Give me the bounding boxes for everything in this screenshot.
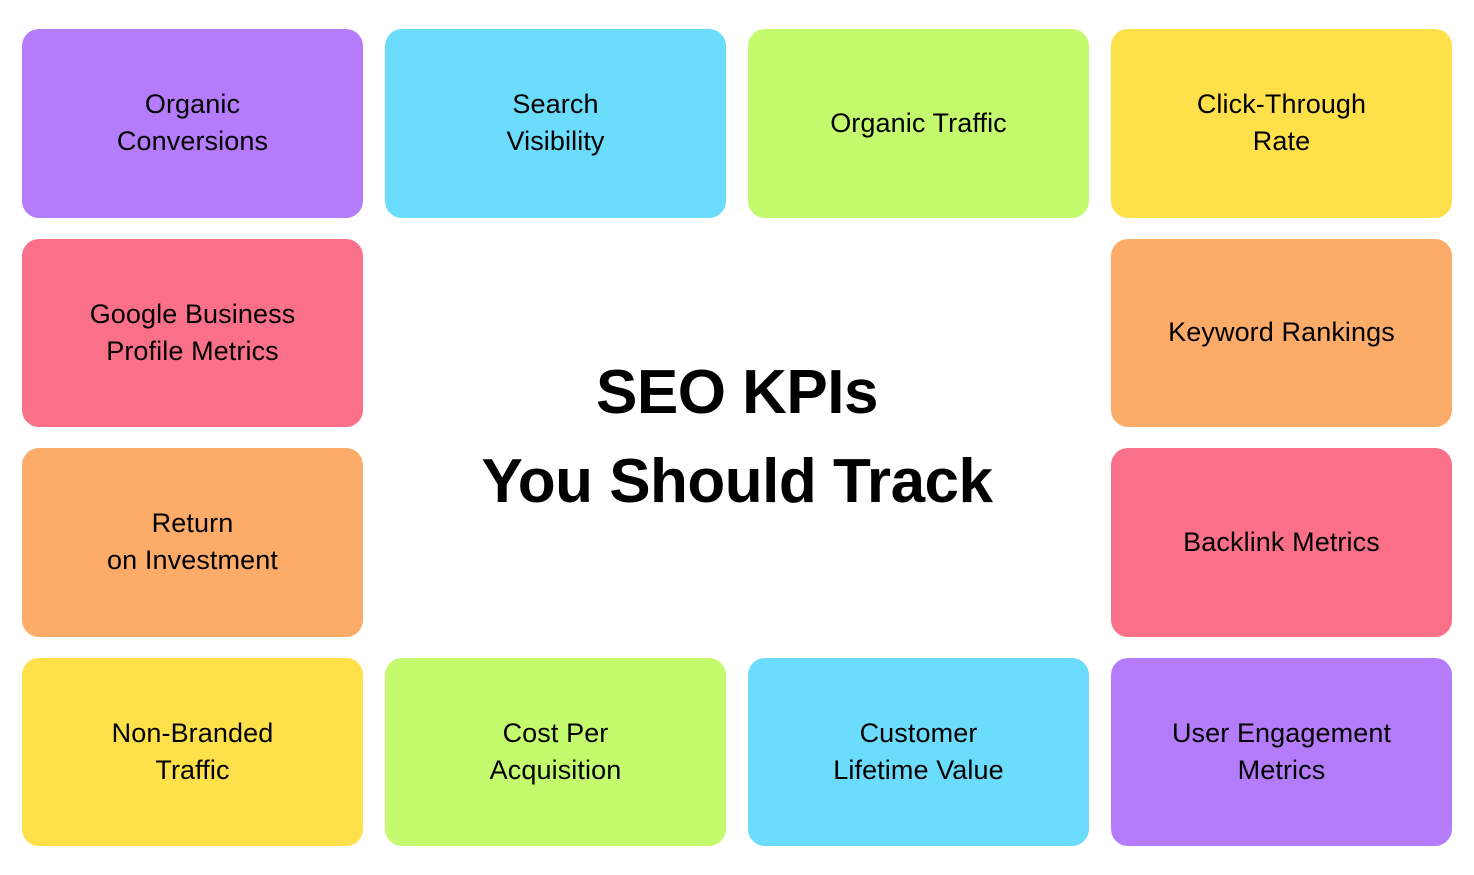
kpi-card-return-on-investment[interactable]: Return on Investment (22, 448, 363, 637)
kpi-card-label: Backlink Metrics (1183, 524, 1380, 561)
kpi-card-label: Search Visibility (506, 86, 604, 161)
kpi-card-label: Non-Branded Traffic (112, 715, 274, 790)
seo-kpi-infographic: Organic Conversions Search Visibility Or… (0, 0, 1474, 875)
kpi-card-label: Organic Conversions (117, 86, 268, 161)
kpi-card-label: Google Business Profile Metrics (90, 296, 296, 371)
kpi-card-keyword-rankings[interactable]: Keyword Rankings (1111, 239, 1452, 428)
kpi-card-label: Return on Investment (107, 505, 278, 580)
kpi-card-grid: Organic Conversions Search Visibility Or… (22, 29, 1452, 846)
kpi-card-non-branded-traffic[interactable]: Non-Branded Traffic (22, 658, 363, 847)
center-title: SEO KPIs You Should Track (385, 239, 1089, 637)
kpi-card-cost-per-acquisition[interactable]: Cost Per Acquisition (385, 658, 726, 847)
kpi-card-label: Keyword Rankings (1168, 314, 1395, 351)
kpi-card-click-through-rate[interactable]: Click-Through Rate (1111, 29, 1452, 218)
page-title: SEO KPIs You Should Track (481, 349, 992, 525)
kpi-card-google-business-profile-metrics[interactable]: Google Business Profile Metrics (22, 239, 363, 428)
kpi-card-label: User Engagement Metrics (1172, 715, 1391, 790)
kpi-card-organic-conversions[interactable]: Organic Conversions (22, 29, 363, 218)
kpi-card-label: Cost Per Acquisition (490, 715, 622, 790)
kpi-card-label: Click-Through Rate (1197, 86, 1366, 161)
kpi-card-organic-traffic[interactable]: Organic Traffic (748, 29, 1089, 218)
kpi-card-user-engagement-metrics[interactable]: User Engagement Metrics (1111, 658, 1452, 847)
kpi-card-label: Organic Traffic (830, 105, 1007, 142)
kpi-card-label: Customer Lifetime Value (833, 715, 1004, 790)
kpi-card-search-visibility[interactable]: Search Visibility (385, 29, 726, 218)
kpi-card-customer-lifetime-value[interactable]: Customer Lifetime Value (748, 658, 1089, 847)
kpi-card-backlink-metrics[interactable]: Backlink Metrics (1111, 448, 1452, 637)
